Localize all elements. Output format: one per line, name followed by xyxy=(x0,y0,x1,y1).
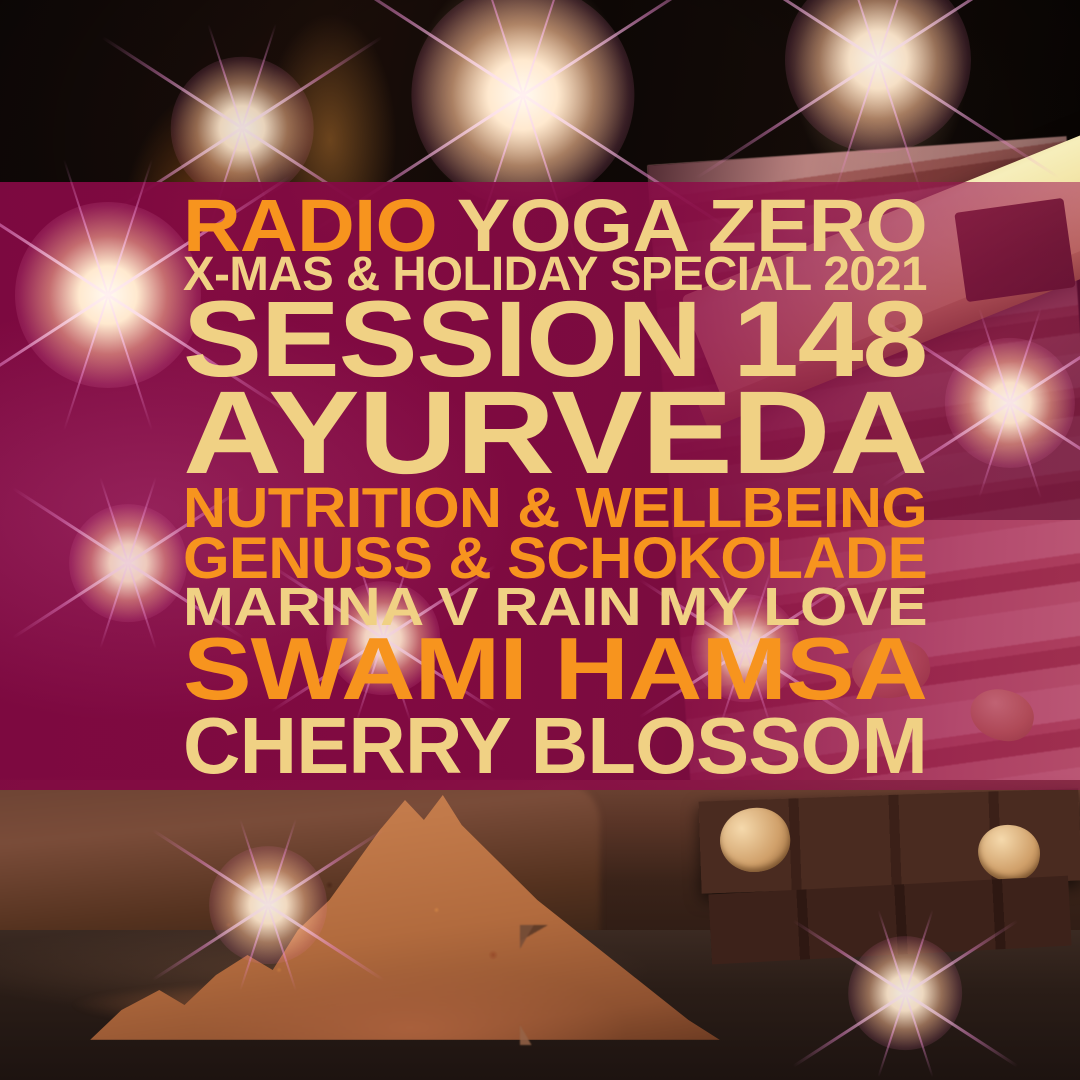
line-brand-stretch: RADIO YOGA ZERO xyxy=(183,196,927,255)
closing-text: CHERRY BLOSSOM xyxy=(183,714,927,778)
topic-text: AYURVEDA xyxy=(183,386,927,480)
guest-text: SWAMI HAMSA xyxy=(183,634,927,704)
line-brand: RADIO YOGA ZERO xyxy=(183,196,927,256)
line-topic: AYURVEDA xyxy=(183,386,927,486)
chocolate-shards xyxy=(520,925,1000,1045)
line-closing: CHERRY BLOSSOM xyxy=(183,714,927,786)
theme-de-text: GENUSS & SCHOKOLADE xyxy=(183,536,927,582)
poster-canvas: RADIO YOGA ZERO X-MAS & HOLIDAY SPECIAL … xyxy=(0,0,1080,1080)
poster-text-block: RADIO YOGA ZERO X-MAS & HOLIDAY SPECIAL … xyxy=(183,196,927,786)
theme-en-text: NUTRITION & WELLBEING xyxy=(183,486,927,532)
